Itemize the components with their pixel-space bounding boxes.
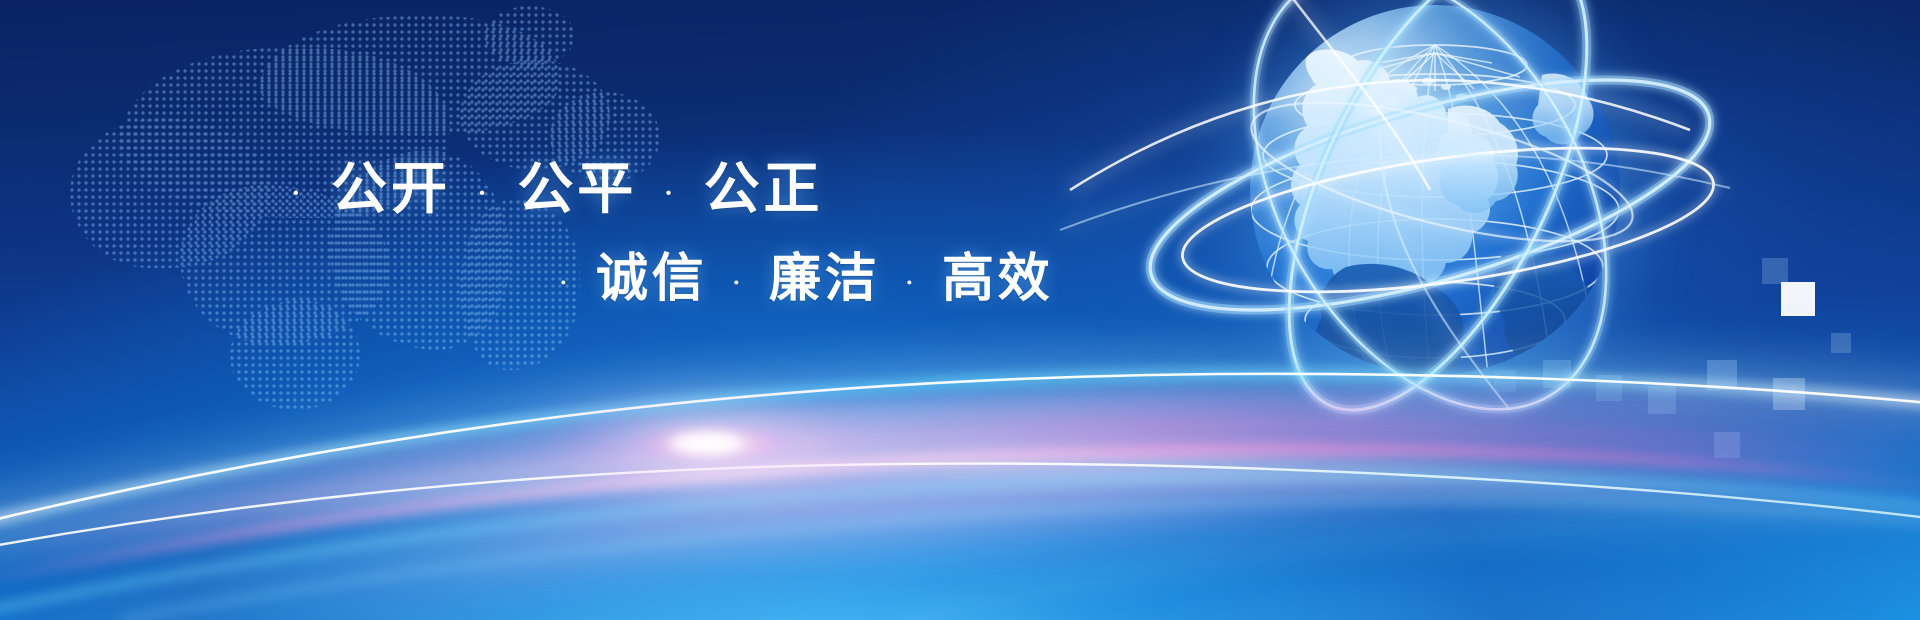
- bullet-separator: ·: [288, 179, 308, 207]
- slogan-line-2: · 诚信 · 廉洁 · 高效: [556, 236, 1053, 311]
- slogan-word: 公正: [704, 156, 824, 222]
- slogan-word: 廉洁: [769, 248, 880, 309]
- bullet-separator: ·: [474, 179, 494, 207]
- slogan-word: 诚信: [596, 248, 707, 309]
- slogan-word: 高效: [942, 248, 1053, 309]
- promotional-banner: · 公开 · 公平 · 公正 · 诚信 · 廉洁 · 高效: [0, 0, 1920, 620]
- bullet-separator: ·: [902, 270, 920, 296]
- headline-block: · 公开 · 公平 · 公正 · 诚信 · 廉洁 · 高效: [0, 0, 1920, 620]
- bullet-separator: ·: [729, 270, 747, 296]
- bullet-separator: ·: [556, 270, 574, 296]
- slogan-word: 公开: [331, 156, 451, 222]
- slogan-line-1: · 公开 · 公平 · 公正: [288, 144, 823, 225]
- bullet-separator: ·: [661, 179, 681, 207]
- slogan-word: 公平: [517, 156, 637, 222]
